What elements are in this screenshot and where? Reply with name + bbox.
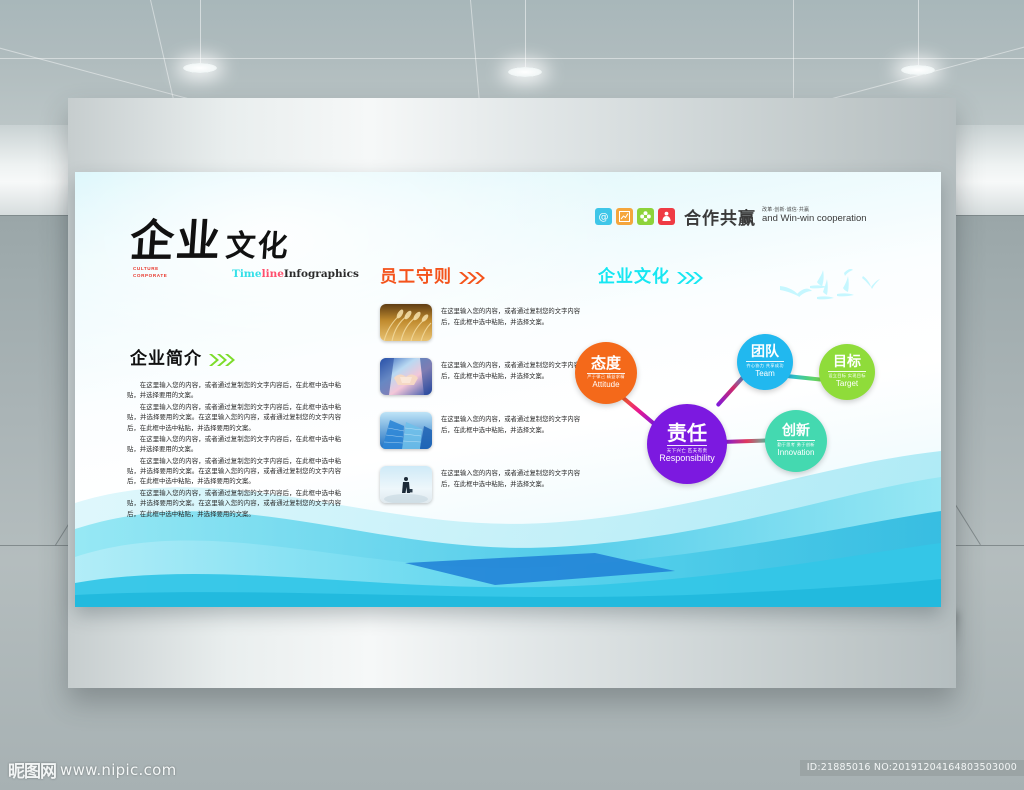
poster-title-main: 企业 [128, 216, 224, 267]
chevron-triple-icon [459, 271, 485, 285]
watermark-logo: 昵图网 [8, 757, 56, 782]
intro-paragraph: 在这里输入您的内容，或者通过复制您的文字内容后，在此框中选中粘贴，并选择要用的文… [127, 488, 341, 519]
wheat-field-photo [380, 304, 432, 341]
value-node-attitude-cn: 态度 [591, 356, 621, 371]
culture-values-diagram: 态度 严于律己 精益求精 Attitude 责任 天下兴亡 匹夫有责 Respo… [575, 332, 915, 497]
value-node-target[interactable]: 目标 设立目标 实现目标 Target [819, 344, 875, 400]
list-item-text: 在这里输入您的内容，或者通过复制您的文字内容后，在此框中选中粘贴，并选择文案。 [441, 304, 580, 329]
chevron-triple-icon [209, 353, 235, 367]
value-node-responsibility-cn: 责任 [667, 423, 707, 443]
light-rod [525, 0, 526, 70]
businessman-photo [380, 466, 432, 503]
intro-paragraph: 在这里输入您的内容，或者通过复制您的文字内容后，在此框中选中粘贴，并选择要用的文… [127, 434, 341, 455]
list-item-text: 在这里输入您的内容，或者通过复制您的文字内容后，在此框中选中粘贴，并选择文案。 [441, 412, 580, 437]
company-intro-text: 在这里输入您的内容，或者通过复制您的文字内容后，在此框中选中粘贴，并选择要用的文… [127, 380, 341, 520]
ceiling-light [901, 65, 935, 75]
intro-paragraph: 在这里输入您的内容，或者通过复制您的文字内容后，在此框中选中粘贴，并选择要用的文… [127, 380, 341, 401]
timeline-word-infographics: Infographics [284, 268, 359, 280]
badge-subtitle: 改革·创新·诚信·共赢 and Win-win cooperation [762, 208, 867, 225]
section-heading-culture: 企业文化 [598, 262, 703, 287]
value-node-team-en: Team [755, 369, 775, 379]
value-node-responsibility-rule: 天下兴亡 匹夫有责 [667, 445, 708, 453]
chart-icon [616, 208, 633, 225]
intro-paragraph: 在这里输入您的内容，或者通过复制您的文字内容后，在此框中选中粘贴，并选择要用的文… [127, 402, 341, 433]
value-node-team-cn: 团队 [751, 345, 779, 359]
timeline-infographics-label: TimelineInfographics [232, 268, 359, 280]
title-kicker: CULTURE CORPORATE [133, 266, 167, 280]
flower-icon [637, 208, 654, 225]
list-item-text: 在这里输入您的内容，或者通过复制您的文字内容后，在此框中选中粘贴，并选择文案。 [441, 358, 580, 383]
glass-building-photo [380, 412, 432, 449]
timeline-word-time: Time [232, 268, 262, 280]
ceiling-light [183, 63, 217, 73]
poster-title-sub: 文化 [224, 229, 290, 264]
value-node-innovation[interactable]: 创新 勤于思考 勇于创新 Innovation [765, 410, 827, 472]
value-node-team[interactable]: 团队 齐心协力 共享成功 Team [737, 334, 793, 390]
timeline-word-line: line [262, 268, 284, 280]
value-node-attitude-en: Attitude [592, 380, 619, 390]
watermark-url: www.nipic.com [60, 761, 177, 779]
section-heading-intro-label: 企业简介 [130, 349, 202, 369]
value-node-target-en: Target [836, 379, 858, 389]
section-heading-culture-label: 企业文化 [598, 267, 670, 287]
kicker-line-1: CULTURE [133, 266, 159, 271]
value-node-attitude[interactable]: 态度 严于律己 精益求精 Attitude [575, 342, 637, 404]
value-node-innovation-en: Innovation [778, 448, 815, 458]
value-node-attitude-rule: 严于律己 精益求精 [587, 373, 624, 380]
badge-subtitle-en: and Win-win cooperation [762, 214, 867, 225]
value-node-team-rule: 齐心协力 共享成功 [746, 361, 783, 368]
intro-paragraph: 在这里输入您的内容，或者通过复制您的文字内容后，在此框中选中粘贴，并选择要用的文… [127, 456, 341, 487]
poster-title-block: 企业文化 CULTURE CORPORATE TimelineInfograph… [130, 220, 290, 264]
list-item[interactable]: 在这里输入您的内容，或者通过复制您的文字内容后，在此框中选中粘贴，并选择文案。 [380, 466, 580, 503]
value-node-innovation-rule: 勤于思考 勇于创新 [777, 440, 814, 447]
value-node-target-cn: 目标 [833, 355, 861, 369]
list-item[interactable]: 在这里输入您的内容，或者通过复制您的文字内容后，在此框中选中粘贴，并选择文案。 [380, 304, 580, 341]
person-icon [658, 208, 675, 225]
section-heading-rules: 员工守则 [380, 262, 485, 287]
ceiling-light [508, 67, 542, 77]
list-item[interactable]: 在这里输入您的内容，或者通过复制您的文字内容后，在此框中选中粘贴，并选择文案。 [380, 412, 580, 449]
at-sign-icon: @ [595, 208, 612, 225]
kicker-line-2: CORPORATE [133, 273, 167, 278]
flying-birds-icon [775, 260, 905, 330]
value-node-target-rule: 设立目标 实现目标 [828, 371, 865, 378]
light-rod [918, 0, 919, 68]
handshake-photo [380, 358, 432, 395]
value-node-responsibility-en: Responsibility [659, 453, 715, 464]
employee-rules-list: 在这里输入您的内容，或者通过复制您的文字内容后，在此框中选中粘贴，并选择文案。 … [380, 304, 580, 520]
cooperation-badge: @ 合作共赢 改革·创新·诚信·共赢 and Win-win cooperati… [595, 204, 867, 229]
section-heading-intro: 企业简介 [130, 344, 235, 369]
list-item-text: 在这里输入您的内容，或者通过复制您的文字内容后，在此框中选中粘贴，并选择文案。 [441, 466, 580, 491]
section-heading-rules-label: 员工守则 [380, 267, 452, 287]
badge-headline: 合作共赢 [684, 204, 756, 229]
culture-poster: 企业文化 CULTURE CORPORATE TimelineInfograph… [75, 172, 941, 607]
value-node-responsibility[interactable]: 责任 天下兴亡 匹夫有责 Responsibility [647, 404, 727, 484]
watermark: 昵图网 www.nipic.com [8, 757, 177, 782]
connector-responsibility-innovation [723, 438, 771, 444]
poster-title: 企业文化 [128, 220, 291, 264]
light-rod [200, 0, 201, 66]
image-id-tag: ID:21885016 NO:20191204164803503000 [800, 760, 1024, 776]
list-item[interactable]: 在这里输入您的内容，或者通过复制您的文字内容后，在此框中选中粘贴，并选择文案。 [380, 358, 580, 395]
value-node-innovation-cn: 创新 [782, 424, 810, 438]
chevron-triple-icon [677, 271, 703, 285]
svg-text:@: @ [599, 212, 609, 223]
